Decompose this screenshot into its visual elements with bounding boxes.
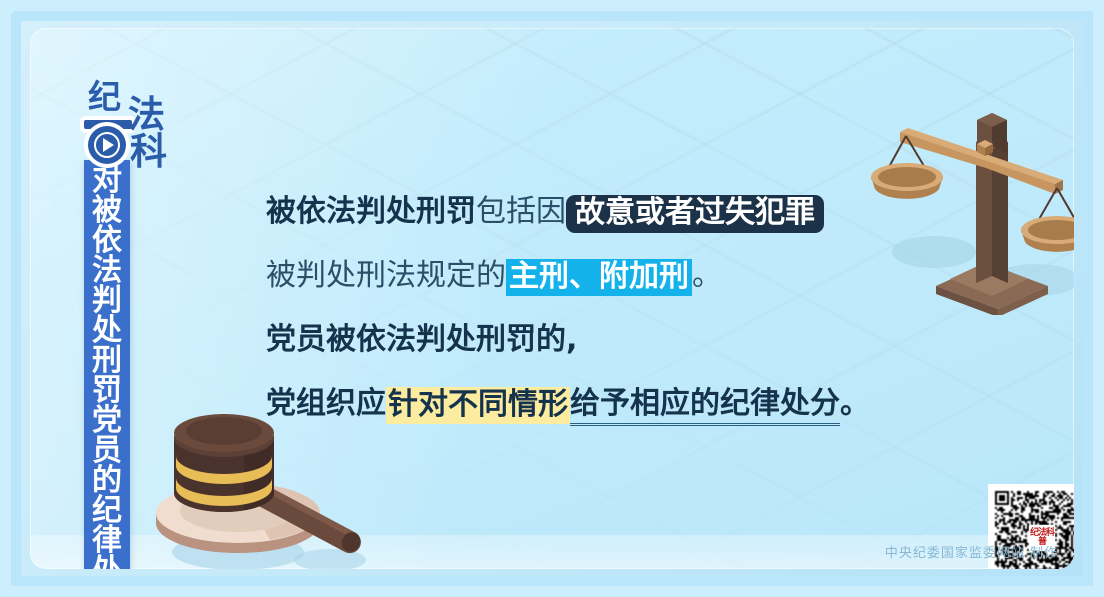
- line1-seg-bold: 被依法判处刑罚: [266, 194, 476, 229]
- body-line-3: 党员被依法判处刑罚的,: [266, 308, 926, 372]
- line1-badge: 故意或者过失犯罪: [566, 195, 824, 233]
- vertical-title-char: 判: [92, 286, 122, 316]
- vertical-title-char: 党: [92, 406, 122, 436]
- logo-char-ke: 科: [130, 133, 167, 170]
- poster-canvas: 纪 法 科 对被依法判处刑罚党员的纪律处分 被依法判处刑罚包括因故意或者过失犯罪…: [0, 0, 1104, 597]
- line2-period: 。: [692, 258, 722, 293]
- vertical-title-char: 处: [92, 556, 122, 569]
- brand-logo: 纪 法 科: [84, 78, 194, 178]
- line2-seg-regular: 被判处刑法规定的: [266, 258, 506, 293]
- line2-highlight-cyan: 主刑、附加刑: [506, 259, 692, 296]
- vertical-title-char: 处: [92, 316, 122, 346]
- body-line-2: 被判处刑法规定的主刑、附加刑。: [266, 244, 926, 308]
- vertical-title-char: 依: [92, 226, 122, 256]
- line4-seg-bold: 党组织应: [266, 386, 386, 421]
- logo-char-ji: 纪: [88, 80, 121, 113]
- line4-underlined: 给予相应的纪律处分: [570, 386, 840, 426]
- play-icon: [88, 126, 126, 164]
- vertical-title-char: 法: [92, 256, 122, 286]
- line1-seg-regular: 包括因: [476, 194, 566, 229]
- line3-seg-bold: 党员被依法判处刑罚的,: [266, 322, 577, 357]
- line4-highlight-yellow: 针对不同情形: [386, 387, 570, 424]
- vertical-title-banner: 对被依法判处刑罚党员的纪律处分: [84, 160, 130, 569]
- credit-text: 中央纪委国家监委网站 制作: [885, 542, 1058, 561]
- vertical-title-char: 的: [92, 466, 122, 496]
- content-stage: 纪 法 科 对被依法判处刑罚党员的纪律处分 被依法判处刑罚包括因故意或者过失犯罪…: [30, 28, 1074, 569]
- vertical-title-char: 员: [92, 436, 122, 466]
- logo-char-fa: 法: [128, 96, 165, 133]
- body-line-4: 党组织应针对不同情形给予相应的纪律处分。: [266, 372, 926, 436]
- vertical-title-char: 罚: [92, 376, 122, 406]
- vertical-title-char: 被: [92, 196, 122, 226]
- line4-period: 。: [840, 386, 870, 421]
- vertical-title-char: 律: [92, 526, 122, 556]
- body-copy: 被依法判处刑罚包括因故意或者过失犯罪 被判处刑法规定的主刑、附加刑。 党员被依法…: [266, 180, 926, 436]
- vertical-title-char: 纪: [92, 496, 122, 526]
- body-line-1: 被依法判处刑罚包括因故意或者过失犯罪: [266, 180, 926, 244]
- vertical-title-char: 刑: [92, 346, 122, 376]
